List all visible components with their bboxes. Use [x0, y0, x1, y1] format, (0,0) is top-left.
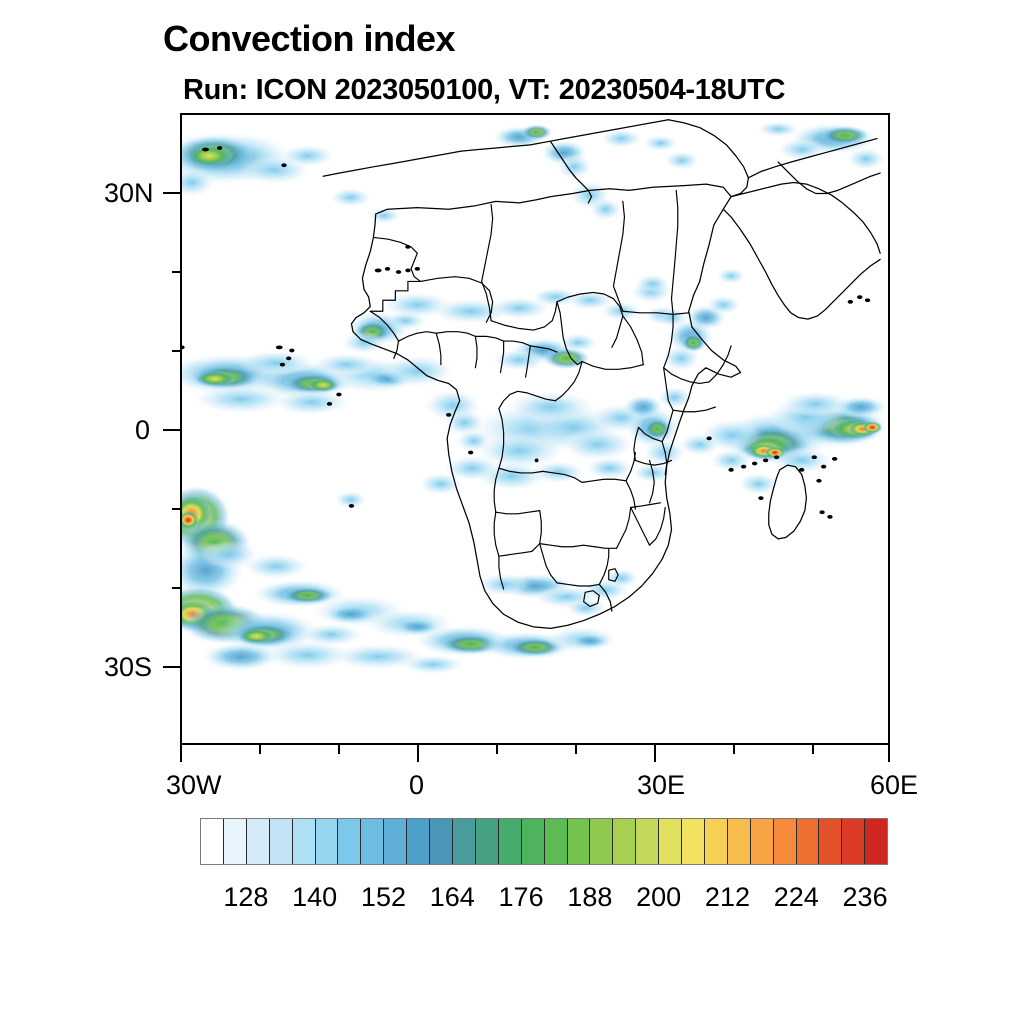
x-axis-label-60E: 60E	[870, 770, 918, 801]
colorbar-cell	[819, 819, 842, 864]
y-tick-major-30N	[163, 192, 180, 194]
colorbar-tick-label: 176	[499, 882, 544, 913]
x-tick-major-0	[417, 745, 419, 762]
colorbar-cell	[338, 819, 361, 864]
colorbar-tick-label: 236	[843, 882, 888, 913]
colorbar-tick-label: 212	[705, 882, 750, 913]
map-plot-area[interactable]	[180, 113, 890, 745]
x-tick-minor-40E	[733, 745, 735, 754]
y-axis-label-0: 0	[135, 415, 150, 446]
colorbar-cell	[224, 819, 247, 864]
colorbar-cell	[522, 819, 545, 864]
x-tick-major-60E	[888, 745, 890, 762]
y-tick-major-30S	[163, 666, 180, 668]
colorbar-cell	[384, 819, 407, 864]
page-subtitle: Run: ICON 2023050100, VT: 20230504-18UTC	[183, 74, 785, 107]
colorbar-cell	[270, 819, 293, 864]
colorbar-cell	[316, 819, 339, 864]
x-tick-major-30W	[180, 745, 182, 762]
x-tick-minor-10W	[338, 745, 340, 754]
colorbar-cell	[247, 819, 270, 864]
y-tick-minor-20S	[172, 587, 181, 589]
colorbar-cell	[682, 819, 705, 864]
colorbar-cell	[705, 819, 728, 864]
y-tick-minor-10S	[172, 508, 181, 510]
colorbar-tick-label: 200	[636, 882, 681, 913]
x-axis-label-0: 0	[409, 770, 424, 801]
x-axis-label-30W: 30W	[166, 770, 222, 801]
x-tick-minor-10E	[496, 745, 498, 754]
colorbar[interactable]	[200, 818, 888, 865]
colorbar-cell	[293, 819, 316, 864]
colorbar-cell	[453, 819, 476, 864]
colorbar-tick-label: 188	[567, 882, 612, 913]
colorbar-tick-label: 140	[292, 882, 337, 913]
colorbar-cell	[430, 819, 453, 864]
colorbar-tick-label: 164	[430, 882, 475, 913]
colorbar-cell	[407, 819, 430, 864]
colorbar-cell	[774, 819, 797, 864]
colorbar-cell	[659, 819, 682, 864]
y-tick-minor-20N	[172, 271, 181, 273]
x-tick-minor-20E	[575, 745, 577, 754]
y-tick-minor-10N	[172, 350, 181, 352]
x-tick-major-30E	[654, 745, 656, 762]
colorbar-tick-label: 152	[361, 882, 406, 913]
colorbar-cell	[201, 819, 224, 864]
colorbar-tick-label: 128	[223, 882, 268, 913]
map-svg	[182, 115, 888, 743]
colorbar-cell	[728, 819, 751, 864]
colorbar-labels: 128140152164176188200212224236	[200, 882, 888, 916]
colorbar-cell	[751, 819, 774, 864]
x-axis-label-30E: 30E	[637, 770, 685, 801]
colorbar-cell	[842, 819, 865, 864]
y-axis-label-30N: 30N	[104, 178, 154, 209]
x-tick-minor-20W	[259, 745, 261, 754]
colorbar-cell	[476, 819, 499, 864]
y-axis-label-30S: 30S	[104, 652, 152, 683]
colorbar-cell	[797, 819, 820, 864]
colorbar-cell	[499, 819, 522, 864]
colorbar-cell	[361, 819, 384, 864]
y-tick-major-0	[163, 429, 180, 431]
colorbar-cell	[636, 819, 659, 864]
colorbar-cell	[568, 819, 591, 864]
page-title: Convection index	[163, 18, 455, 60]
colorbar-cell	[590, 819, 613, 864]
colorbar-cell	[545, 819, 568, 864]
colorbar-cell	[865, 819, 887, 864]
x-tick-minor-50E	[812, 745, 814, 754]
colorbar-cell	[613, 819, 636, 864]
colorbar-tick-label: 224	[774, 882, 819, 913]
